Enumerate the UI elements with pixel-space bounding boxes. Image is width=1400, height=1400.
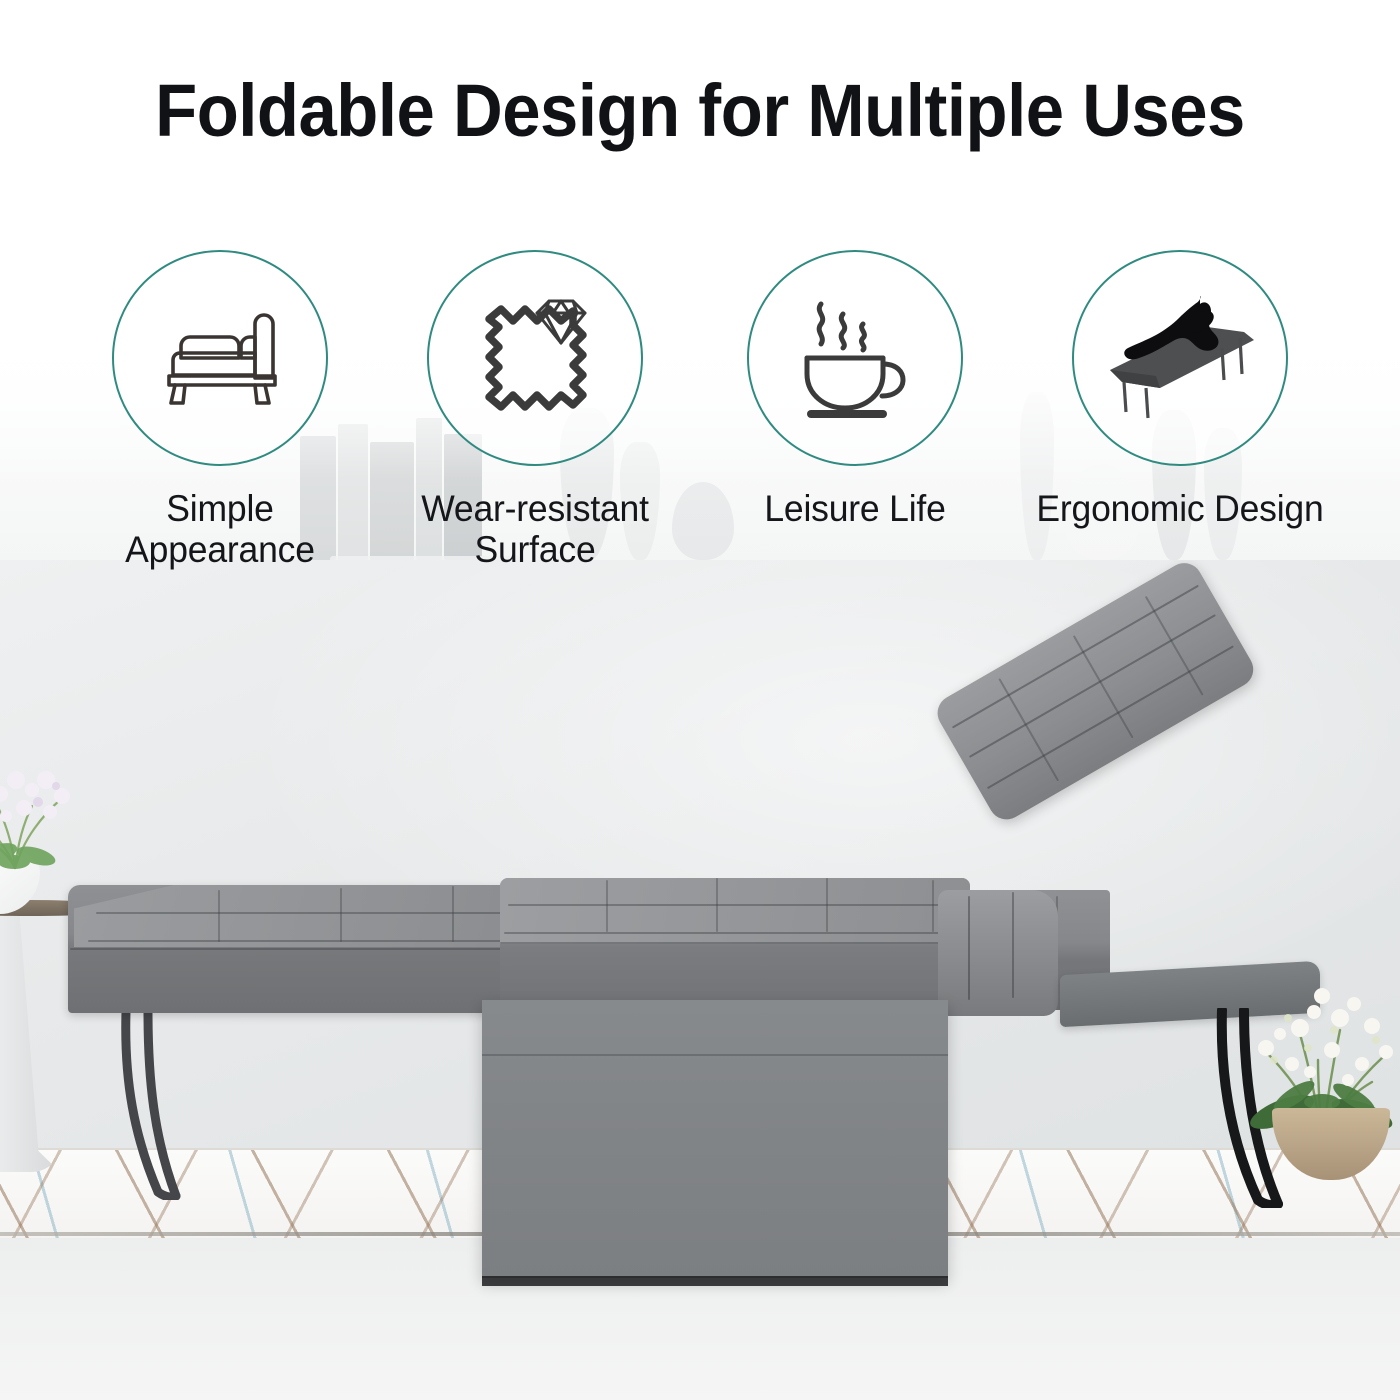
- quilt-stitch: [504, 932, 962, 934]
- quilt-stitch: [452, 886, 454, 942]
- quilt-stitch: [508, 904, 960, 906]
- seat-seam: [500, 942, 970, 944]
- hinge-seam: [1012, 892, 1014, 998]
- quilt-stitch: [218, 890, 220, 942]
- sofa-center-base: [482, 1000, 948, 1278]
- feature-label: Ergonomic Design: [1036, 488, 1324, 529]
- quilt-stitch: [606, 880, 608, 932]
- backrest-channel: [998, 678, 1059, 781]
- feature-label: Leisure Life: [711, 488, 999, 529]
- backrest-channel: [969, 614, 1216, 758]
- fabric-swatch-diamond-icon: [469, 295, 601, 421]
- folding-sofa-bed: [0, 560, 1400, 1400]
- quilt-stitch: [716, 878, 718, 932]
- backrest-channel: [952, 585, 1199, 729]
- coffee-cup-icon: [791, 296, 919, 420]
- backrest-channel: [987, 645, 1234, 789]
- product-photo: [0, 560, 1400, 1400]
- base-seam: [482, 1054, 948, 1056]
- sofa-backrest: [931, 560, 1260, 826]
- page-title: Foldable Design for Multiple Uses: [49, 68, 1351, 153]
- reclining-person-icon: [1104, 296, 1256, 420]
- quilt-stitch: [932, 880, 934, 932]
- feature-icon-circle: [747, 250, 963, 466]
- feature-item-ergonomic-design: Ergonomic Design: [1030, 250, 1330, 529]
- bed-icon: [159, 306, 281, 410]
- quilt-stitch: [88, 940, 524, 942]
- product-feature-poster: Foldable Design for Multiple Uses: [0, 0, 1400, 1400]
- feature-label: Wear-resistant Surface: [391, 488, 679, 571]
- feature-icon-circle: [112, 250, 328, 466]
- sofa-leg-left: [118, 1010, 196, 1200]
- backrest-channel: [1073, 635, 1134, 738]
- hinge-seam: [968, 896, 970, 1000]
- quilt-stitch: [340, 888, 342, 942]
- quilt-stitch: [826, 878, 828, 932]
- feature-label: Simple Appearance: [76, 488, 364, 571]
- feature-item-wear-resistant: Wear-resistant Surface: [385, 250, 685, 571]
- feature-icon-circle: [1072, 250, 1288, 466]
- seat-seam: [70, 948, 526, 950]
- feature-list: Simple Appearance: [0, 250, 1400, 590]
- feature-item-leisure-life: Leisure Life: [705, 250, 1005, 529]
- feature-icon-circle: [427, 250, 643, 466]
- backrest-hinge: [938, 890, 1058, 1016]
- feature-item-simple-appearance: Simple Appearance: [70, 250, 370, 571]
